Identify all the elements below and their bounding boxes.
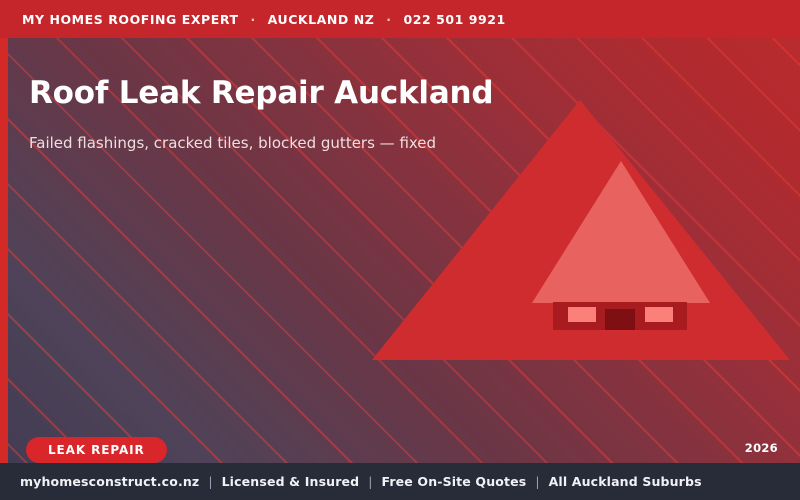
topbar-separator-1: · xyxy=(243,12,262,27)
leak-repair-badge-label: LEAK REPAIR xyxy=(48,443,145,457)
phone-number[interactable]: 022 501 9921 xyxy=(403,12,505,27)
footer-separator-2: | xyxy=(359,474,381,489)
footer-item-website[interactable]: myhomesconstruct.co.nz xyxy=(20,474,199,489)
footer-item-suburbs: All Auckland Suburbs xyxy=(549,474,702,489)
top-contact-bar: MY HOMES ROOFING EXPERT · AUCKLAND NZ · … xyxy=(0,0,800,38)
footer-bar: myhomesconstruct.co.nz | Licensed & Insu… xyxy=(0,463,800,500)
roofing-promo-banner: MY HOMES ROOFING EXPERT · AUCKLAND NZ · … xyxy=(0,0,800,500)
topbar-separator-2: · xyxy=(379,12,398,27)
top-contact-text: MY HOMES ROOFING EXPERT · AUCKLAND NZ · … xyxy=(22,12,506,27)
footer-item-licensed: Licensed & Insured xyxy=(222,474,360,489)
left-accent-rail xyxy=(0,0,8,463)
hero-text-block: Roof Leak Repair Auckland Failed flashin… xyxy=(29,76,529,155)
footer-separator-3: | xyxy=(526,474,548,489)
footer-item-quotes: Free On-Site Quotes xyxy=(381,474,526,489)
leak-repair-badge[interactable]: LEAK REPAIR xyxy=(26,437,167,463)
company-name: MY HOMES ROOFING EXPERT xyxy=(22,12,239,27)
location-label: AUCKLAND NZ xyxy=(268,12,375,27)
footer-separator-1: | xyxy=(199,474,221,489)
page-title: Roof Leak Repair Auckland xyxy=(29,76,529,112)
year-label: 2026 xyxy=(745,441,778,455)
hero-subtitle: Failed flashings, cracked tiles, blocked… xyxy=(29,132,459,155)
footer-items: myhomesconstruct.co.nz | Licensed & Insu… xyxy=(20,474,702,489)
